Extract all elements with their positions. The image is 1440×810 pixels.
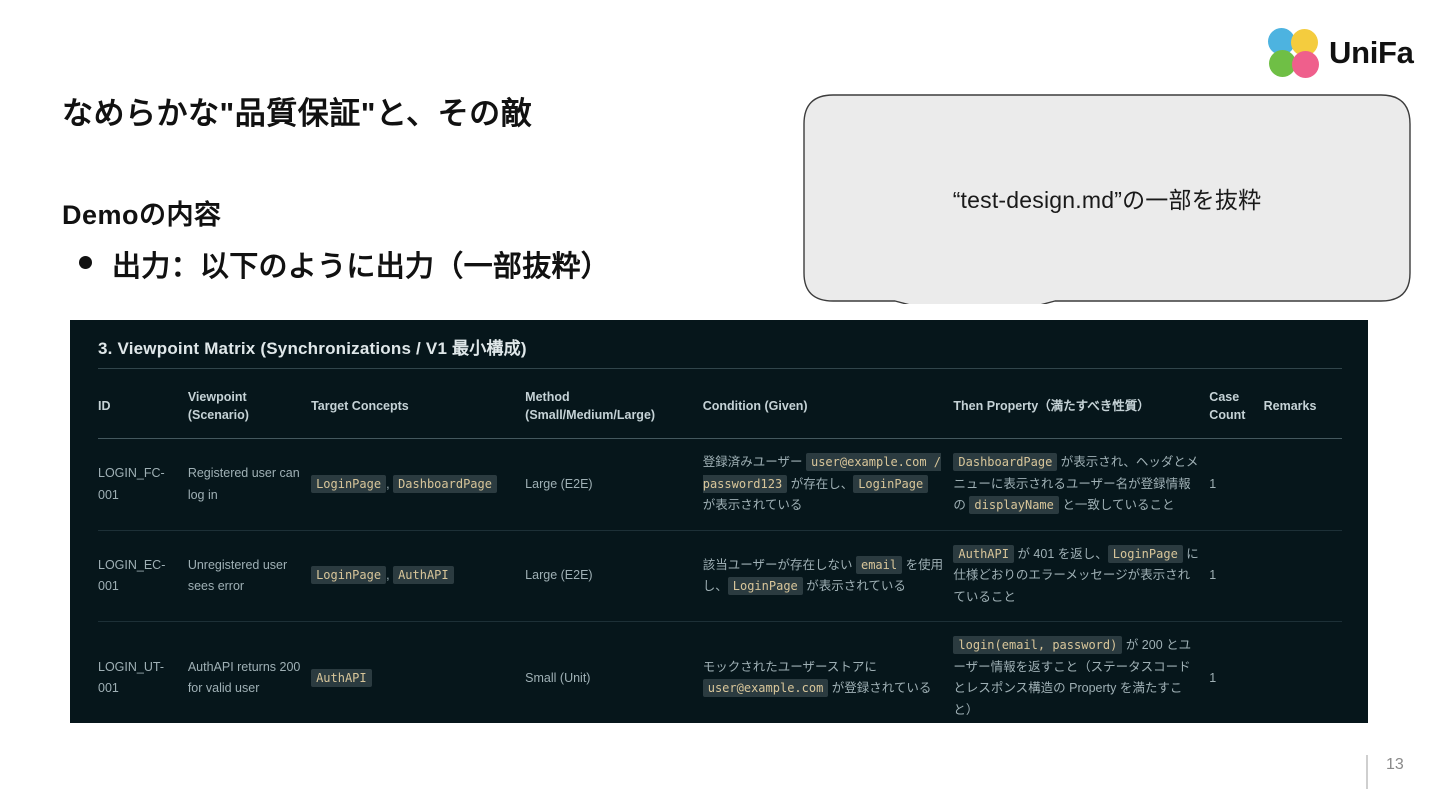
cell-id: LOGIN_UT-001 (98, 622, 188, 723)
cell-target-concepts: LoginPage, AuthAPI (311, 530, 525, 622)
cell-then-property: login(email, password) が 200 とユーザー情報を返すこ… (953, 622, 1209, 723)
cell-viewpoint: Registered user can log in (188, 439, 311, 531)
property-chip: AuthAPI (953, 545, 1014, 563)
viewpoint-matrix-panel: 3. Viewpoint Matrix (Synchronizations / … (70, 320, 1368, 723)
bullet-list-item: 出力：以下のように出力（一部抜粋） (79, 243, 610, 285)
page-number-divider (1366, 755, 1368, 789)
brand-name: UniFa (1329, 35, 1414, 71)
cell-viewpoint: Unregistered user sees error (188, 530, 311, 622)
bullet-dot-icon (79, 256, 92, 269)
column-header-then-property: Then Property（満たすべき性質） (953, 374, 1209, 439)
cell-id: LOGIN_FC-001 (98, 439, 188, 531)
cell-case-count: 1 (1209, 530, 1263, 622)
slide-title: なめらかな"品質保証"と、その敵 (62, 88, 532, 133)
concept-chip: LoginPage (311, 475, 386, 493)
viewpoint-matrix-table: ID Viewpoint (Scenario) Target Concepts … (98, 374, 1342, 723)
cell-case-count: 1 (1209, 439, 1263, 531)
cell-id: LOGIN_EC-001 (98, 530, 188, 622)
cell-condition: 該当ユーザーが存在しない email を使用し、LoginPage が表示されて… (703, 530, 954, 622)
brand-logo: UniFa (1268, 28, 1414, 78)
cell-remarks (1264, 622, 1342, 723)
concept-chip: AuthAPI (393, 566, 454, 584)
column-header-id: ID (98, 374, 188, 439)
cell-method: Large (E2E) (525, 530, 703, 622)
table-row: LOGIN_UT-001 AuthAPI returns 200 for val… (98, 622, 1342, 723)
cell-viewpoint: AuthAPI returns 200 for valid user (188, 622, 311, 723)
cell-case-count: 1 (1209, 622, 1263, 723)
page-number: 13 (1386, 756, 1404, 774)
property-chip: login(email, password) (953, 636, 1122, 654)
concept-chip: DashboardPage (393, 475, 497, 493)
callout-bubble: “test-design.md”の一部を抜粋 (803, 94, 1411, 304)
cell-condition: モックされたユーザーストアに user@example.com が登録されている (703, 622, 954, 723)
unifa-logo-mark (1268, 28, 1320, 78)
concept-chip: AuthAPI (311, 669, 372, 687)
cell-method: Small (Unit) (525, 622, 703, 723)
column-header-condition: Condition (Given) (703, 374, 954, 439)
condition-chip: user@example.com (703, 679, 829, 697)
column-header-target-concepts: Target Concepts (311, 374, 525, 439)
column-header-method: Method (Small/Medium/Large) (525, 374, 703, 439)
cell-remarks (1264, 530, 1342, 622)
column-header-case-count: Case Count (1209, 374, 1263, 439)
panel-title-divider (98, 368, 1342, 369)
callout-text: “test-design.md”の一部を抜粋 (803, 94, 1411, 302)
table-row: LOGIN_FC-001 Registered user can log in … (98, 439, 1342, 531)
table-body: LOGIN_FC-001 Registered user can log in … (98, 439, 1342, 723)
cell-method: Large (E2E) (525, 439, 703, 531)
condition-chip: email (856, 556, 902, 574)
table-row: LOGIN_EC-001 Unregistered user sees erro… (98, 530, 1342, 622)
cell-then-property: DashboardPage が表示され、ヘッダとメニューに表示されるユーザー名が… (953, 439, 1209, 531)
column-header-remarks: Remarks (1264, 374, 1342, 439)
property-chip: DashboardPage (953, 453, 1057, 471)
table-header-row: ID Viewpoint (Scenario) Target Concepts … (98, 374, 1342, 439)
section-heading: Demoの内容 (62, 193, 222, 232)
property-chip: LoginPage (1108, 545, 1183, 563)
cell-then-property: AuthAPI が 401 を返し、LoginPage に仕様どおりのエラーメッ… (953, 530, 1209, 622)
cell-condition: 登録済みユーザー user@example.com / password123 … (703, 439, 954, 531)
panel-title: 3. Viewpoint Matrix (Synchronizations / … (98, 334, 527, 359)
condition-chip: LoginPage (728, 577, 803, 595)
bullet-label: 出力：以下のように出力（一部抜粋） (112, 243, 610, 285)
cell-target-concepts: AuthAPI (311, 622, 525, 723)
property-chip: displayName (969, 496, 1058, 514)
cell-remarks (1264, 439, 1342, 531)
logo-dot-pink-icon (1292, 51, 1319, 78)
concept-chip: LoginPage (311, 566, 386, 584)
column-header-viewpoint: Viewpoint (Scenario) (188, 374, 311, 439)
cell-target-concepts: LoginPage, DashboardPage (311, 439, 525, 531)
condition-chip: LoginPage (853, 475, 928, 493)
